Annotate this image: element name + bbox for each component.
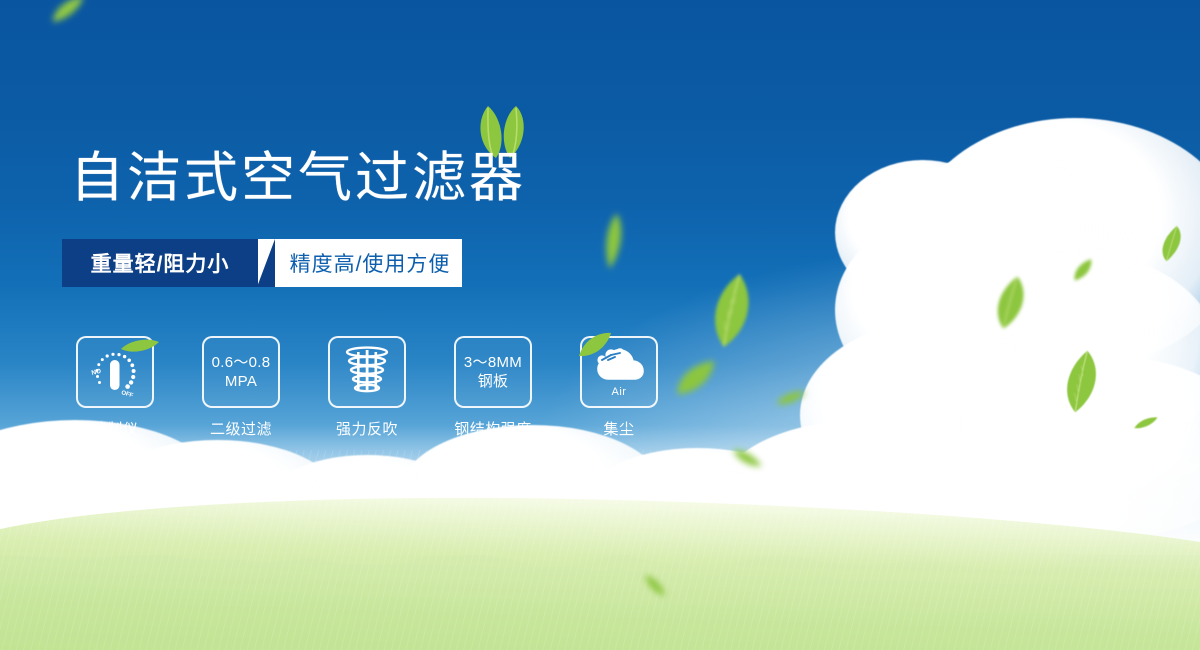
feature-dust-box: Air [580,336,658,408]
steel-thickness-line2: 钢板 [478,372,509,391]
subtitle-bar: 重量轻/阻力小 精度高/使用方便 [62,239,462,287]
feature-steel-box: 3～8MM 钢板 [454,336,532,408]
filtration-pressure-line2: MPA [225,372,257,391]
page-title: 自洁式空气过滤器 [70,145,526,211]
feature-steel-caption: 钢结构强度 [454,418,532,439]
dial-label-off: OFF [120,390,134,397]
feature-backblow-box [328,336,406,408]
subtitle-left-text: 重量轻/阻力小 [91,248,230,278]
feature-filtration-caption: 二级过滤 [210,418,272,439]
grass-texture [0,450,1200,650]
feature-strong-backblow[interactable]: 强力反吹 [328,336,406,439]
stacked-rings-icon [344,346,390,398]
caption-decor-leaf [120,338,160,354]
icon-decor-leaf [578,332,612,358]
dial-gauge-icon: NO OFF [88,347,142,397]
dial-label-no: NO [91,368,102,377]
feature-two-stage-filtration[interactable]: 0.6～0.8 MPA 二级过滤 [202,336,280,439]
product-banner: 自洁式空气过滤器 重量轻/阻力小 精度高/使用方便 [0,0,1200,650]
steel-thickness-line1: 3～8MM [464,353,522,372]
feature-steel-strength[interactable]: 3～8MM 钢板 钢结构强度 [454,336,532,439]
feature-dust-caption: 集尘 [603,418,634,439]
feature-dust-collection[interactable]: Air 集尘 [580,336,658,439]
cloud-air-label: Air [612,386,627,398]
feature-list: NO OFF 控制仪 0.6～0.8 MPA 二级过滤 [76,336,658,439]
subtitle-left-block: 重量轻/阻力小 [62,239,258,287]
feature-filtration-box: 0.6～0.8 MPA [202,336,280,408]
filtration-pressure-line1: 0.6～0.8 [212,353,271,372]
subtitle-right-block: 精度高/使用方便 [258,239,462,287]
subtitle-right-text: 精度高/使用方便 [290,248,451,278]
feature-backblow-caption: 强力反吹 [336,418,398,439]
feature-controller-caption: 控制仪 [92,418,139,439]
